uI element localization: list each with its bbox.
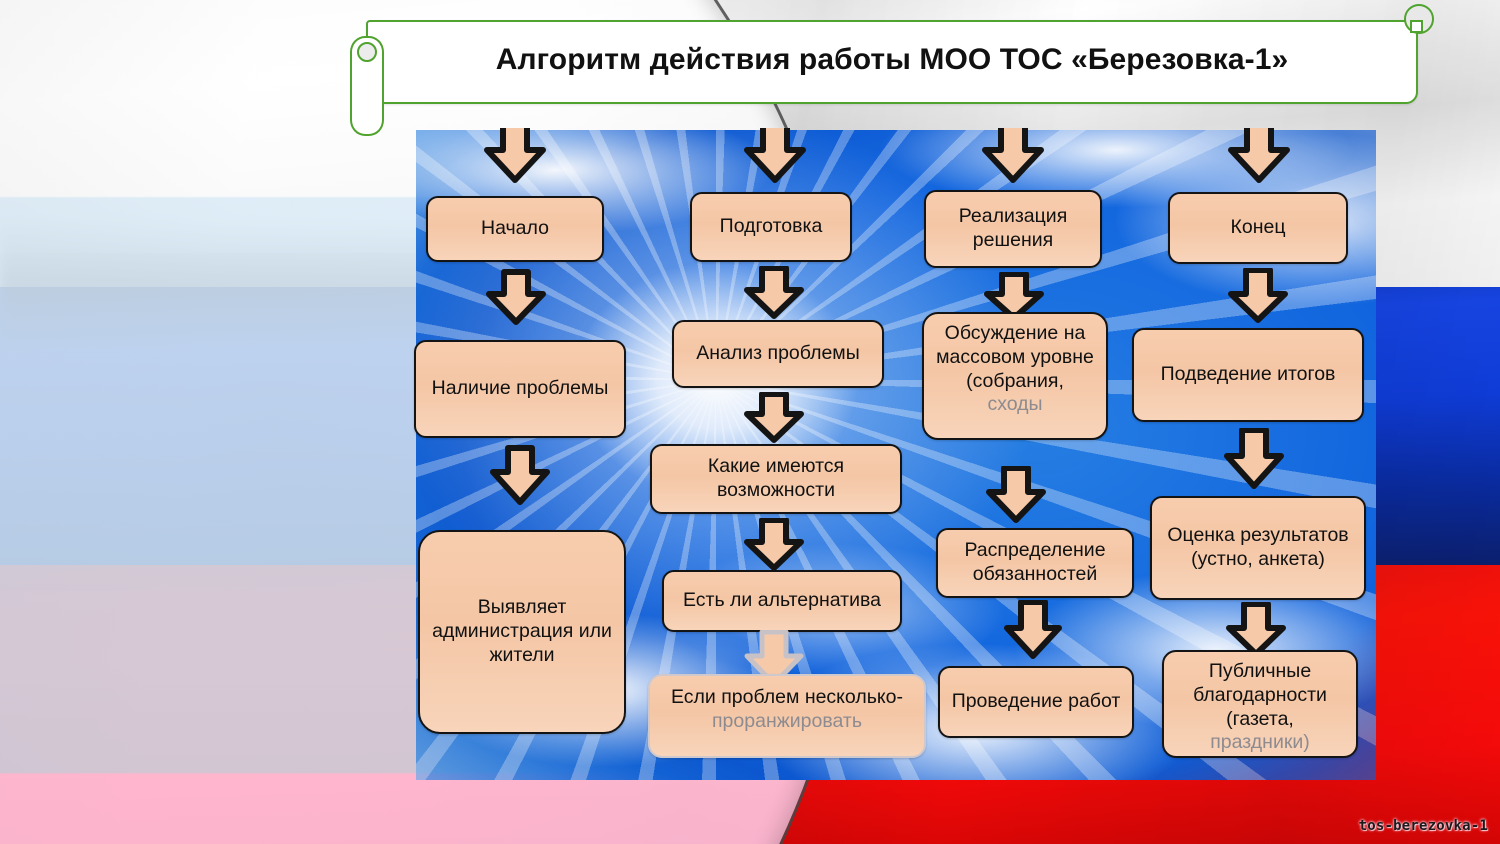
node-label: Публичные благодарности (газета, bbox=[1193, 660, 1327, 730]
arrow-col2-3 bbox=[744, 518, 804, 572]
entry-arrow-col-2 bbox=[744, 128, 806, 184]
node-label: Анализ проблемы bbox=[696, 342, 859, 366]
node-provedenie-rabot[interactable]: Проведение работ bbox=[938, 666, 1134, 738]
node-raspredelenie-obyazannostey[interactable]: Распределение обязанностей bbox=[936, 528, 1134, 598]
node-label: Распределение обязанностей bbox=[944, 539, 1126, 587]
node-analiz-problemy[interactable]: Анализ проблемы bbox=[672, 320, 884, 388]
arrow-col1-1 bbox=[486, 268, 546, 326]
node-vyyavlyaet-administratsiya[interactable]: Выявляет администрация или жители bbox=[418, 530, 626, 734]
node-label: Начало bbox=[481, 217, 549, 241]
node-obsuzhdenie-na-massovom-urovne[interactable]: Обсуждение на массовом уровне (собрания,… bbox=[922, 312, 1108, 440]
entry-arrow-col-4 bbox=[1228, 128, 1290, 184]
node-label: Есть ли альтернатива bbox=[683, 589, 881, 613]
node-label: Конец bbox=[1231, 216, 1286, 240]
arrow-col2-1 bbox=[744, 266, 804, 320]
node-podvedenie-itogov[interactable]: Подведение итогов bbox=[1132, 328, 1364, 422]
node-otsenka-rezultatov[interactable]: Оценка результатов (устно, анкета) bbox=[1150, 496, 1366, 600]
node-label-overflow: проранжировать bbox=[656, 710, 918, 734]
arrow-col4-2 bbox=[1224, 428, 1284, 490]
node-label: Подведение итогов bbox=[1161, 363, 1336, 387]
arrow-col4-1 bbox=[1228, 268, 1288, 324]
node-label: Выявляет администрация или жители bbox=[426, 596, 618, 667]
node-nachalo[interactable]: Начало bbox=[426, 196, 604, 262]
node-publichnye-blagodarnosti[interactable]: Публичные благодарности (газета, праздни… bbox=[1162, 650, 1358, 758]
watermark: tos-berezovka-1 bbox=[1359, 818, 1488, 834]
node-label: Обсуждение на массовом уровне (собрания, bbox=[936, 322, 1094, 392]
node-podgotovka[interactable]: Подготовка bbox=[690, 192, 852, 262]
node-est-li-alternativa[interactable]: Есть ли альтернатива bbox=[662, 570, 902, 632]
node-kakie-imeyutsya-vozmozhnosti[interactable]: Какие имеются возможности bbox=[650, 444, 902, 514]
node-nalichie-problemy[interactable]: Наличие проблемы bbox=[414, 340, 626, 438]
node-label: Наличие проблемы bbox=[432, 377, 609, 401]
node-label-overflow: праздники) bbox=[1170, 731, 1350, 755]
entry-arrow-col-1 bbox=[484, 128, 546, 184]
flowchart: Начало Наличие проблемы Выявляет админис… bbox=[0, 0, 1500, 844]
node-label: Реализация решения bbox=[932, 205, 1094, 253]
arrow-col3-3 bbox=[1004, 600, 1062, 660]
node-label: Какие имеются возможности bbox=[658, 455, 894, 503]
node-realizatsiya-resheniya[interactable]: Реализация решения bbox=[924, 190, 1102, 268]
arrow-col1-2 bbox=[490, 444, 550, 506]
node-label: Если проблем несколько- bbox=[671, 686, 903, 708]
node-esli-problem-neskolko[interactable]: Если проблем несколько- проранжировать bbox=[648, 674, 926, 758]
node-label: Подготовка bbox=[720, 215, 823, 239]
node-label: Проведение работ bbox=[952, 690, 1121, 714]
slide-canvas: Алгоритм действия работы МОО ТОС «Березо… bbox=[0, 0, 1500, 844]
node-label-overflow: сходы bbox=[930, 393, 1100, 417]
node-label: Оценка результатов (устно, анкета) bbox=[1158, 524, 1358, 572]
arrow-col2-2 bbox=[744, 392, 804, 444]
node-konets[interactable]: Конец bbox=[1168, 192, 1348, 264]
arrow-col3-2 bbox=[986, 466, 1046, 524]
entry-arrow-col-3 bbox=[982, 128, 1044, 184]
